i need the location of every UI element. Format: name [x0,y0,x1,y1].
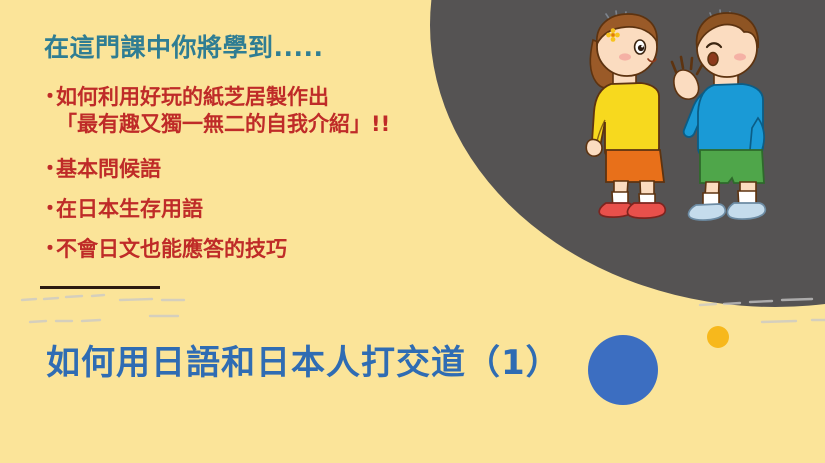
bullet-marker-icon: ・ [40,84,56,110]
girl-shirt [592,83,659,158]
list-item: ・ 如何利用好玩的紙芝居製作出 「最有趣又獨一無二的自我介紹」!! [40,84,500,138]
bullet-text: 在日本生存用語 [56,196,500,223]
orange-circle-decoration [707,326,729,348]
bullet-marker-icon: ・ [40,236,56,262]
boy-leg-back [704,182,719,212]
bullet-list: ・ 如何利用好玩的紙芝居製作出 「最有趣又獨一無二的自我介紹」!! ・ 基本問候… [40,84,500,275]
boy-hand [743,151,758,166]
divider [40,286,160,289]
boy-eye [707,43,721,47]
girl-hand [586,139,602,156]
girl-hair-flower-icon [606,28,620,42]
page-title: 如何用日語和日本人打交道（1） [46,335,561,384]
boy-head [697,19,757,77]
boy-shirt [698,84,763,159]
slide-canvas: 在這門課中你將學到..... ・ 如何利用好玩的紙芝居製作出 「最有趣又獨一無二… [0,0,825,463]
list-item: ・ 在日本生存用語 [40,196,500,223]
bullet-marker-icon: ・ [40,196,56,222]
page-heading: 在這門課中你將學到..... [44,28,324,64]
list-item: ・ 不會日文也能應答的技巧 [40,236,500,263]
boy-sock-front [738,191,756,210]
bullet-text: 基本問候語 [56,156,500,183]
girl-character [586,11,665,218]
boy-sock-back [703,193,719,212]
boy-head-marks [710,10,739,22]
girl-back-hair [590,40,614,88]
girl-leg-back [614,181,628,210]
girl-blush [619,53,631,60]
boy-hair [697,13,759,48]
boy-character [672,10,765,220]
girl-mouth [648,59,656,62]
girl-skirt [606,150,664,182]
girl-sock-back [612,192,628,210]
boy-neck [714,66,738,86]
girl-shoe-back [599,203,633,217]
boy-leg-front [740,182,756,208]
girl-eye [635,40,646,54]
bullet-text: 不會日文也能應答的技巧 [56,236,500,263]
boy-shorts [700,150,764,183]
bullet-text: 如何利用好玩的紙芝居製作出 「最有趣又獨一無二的自我介紹」!! [56,84,500,138]
girl-head [597,18,657,76]
girl-sock-front [639,194,655,210]
girl-head-marks [606,11,634,22]
girl-shoe-front [627,203,665,218]
girl-neck [613,67,636,86]
boy-blush [734,53,746,60]
road-dashes-left [22,295,184,322]
bullet-marker-icon: ・ [40,156,56,182]
girl-leg-front [640,181,654,206]
boy-arm-down [750,118,764,156]
boy-shoe-front [727,203,765,219]
road-dashes-right [700,299,825,322]
blue-circle-decoration [588,335,658,405]
list-item: ・ 基本問候語 [40,156,500,183]
boy-mouth [708,53,718,66]
boy-arm-raised [684,88,714,137]
boy-waving-hand [672,57,702,99]
boy-shoe-back [689,204,726,220]
girl-hair [597,14,657,44]
